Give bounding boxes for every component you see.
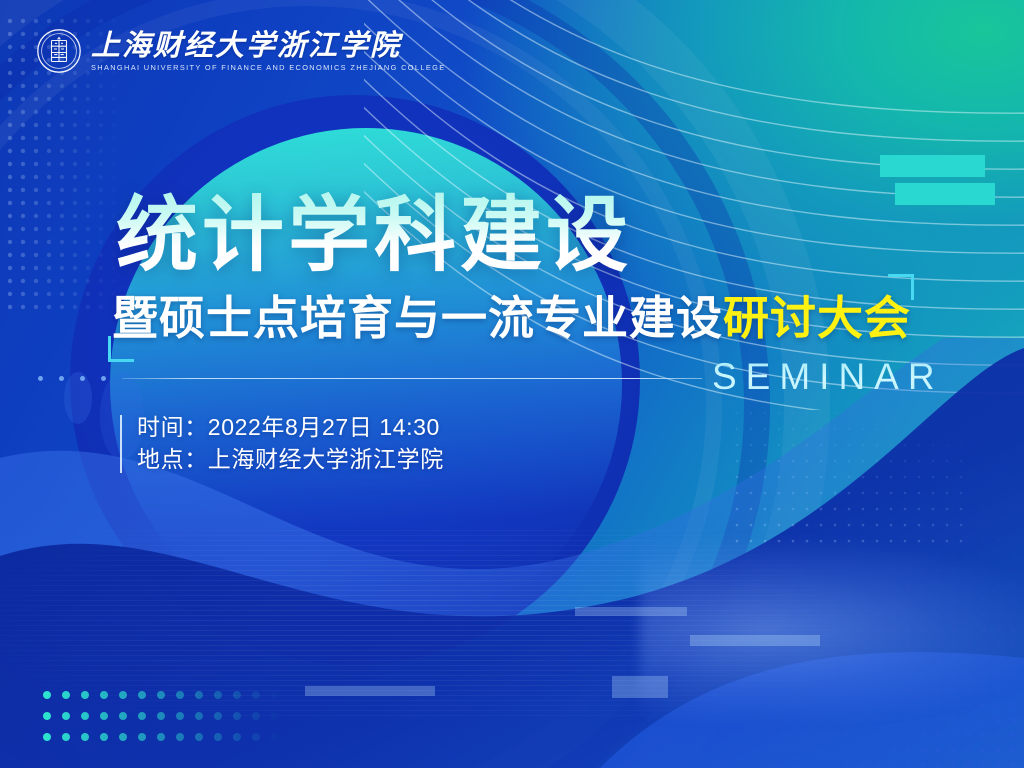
left-dot xyxy=(59,376,64,381)
left-dot xyxy=(38,376,43,381)
corner-bracket-top-right-icon xyxy=(888,274,914,300)
university-name-en: SHANGHAI UNIVERSITY OF FINANCE AND ECONO… xyxy=(91,63,445,72)
page-subtitle: 暨硕士点培育与一流专业建设研讨大会 xyxy=(112,292,911,344)
university-crest-icon xyxy=(36,28,82,74)
event-time: 时间：2022年8月27日 14:30 xyxy=(137,411,444,443)
poster-content: 上海财经大学浙江学院 SHANGHAI UNIVERSITY OF FINANC… xyxy=(0,0,1024,768)
left-dot xyxy=(101,376,106,381)
event-poster: 上海财经大学浙江学院 SHANGHAI UNIVERSITY OF FINANC… xyxy=(0,0,1024,768)
event-place: 地点：上海财经大学浙江学院 xyxy=(137,443,444,475)
subtitle-white-part: 暨硕士点培育与一流专业建设 xyxy=(112,292,723,344)
divider-rule xyxy=(122,378,702,379)
subtitle-yellow-part: 研讨大会 xyxy=(723,292,911,344)
event-details: 时间：2022年8月27日 14:30 地点：上海财经大学浙江学院 xyxy=(120,411,444,475)
university-name-cn: 上海财经大学浙江学院 xyxy=(91,30,445,62)
university-logo-text: 上海财经大学浙江学院 SHANGHAI UNIVERSITY OF FINANC… xyxy=(91,30,445,72)
corner-bracket-bottom-left-icon xyxy=(108,336,134,362)
seminar-label: SEMINAR xyxy=(712,355,944,399)
left-dot xyxy=(80,376,85,381)
left-dot-row xyxy=(38,376,106,381)
page-title: 统计学科建设 xyxy=(116,192,632,280)
university-logo: 上海财经大学浙江学院 SHANGHAI UNIVERSITY OF FINANC… xyxy=(36,28,445,74)
